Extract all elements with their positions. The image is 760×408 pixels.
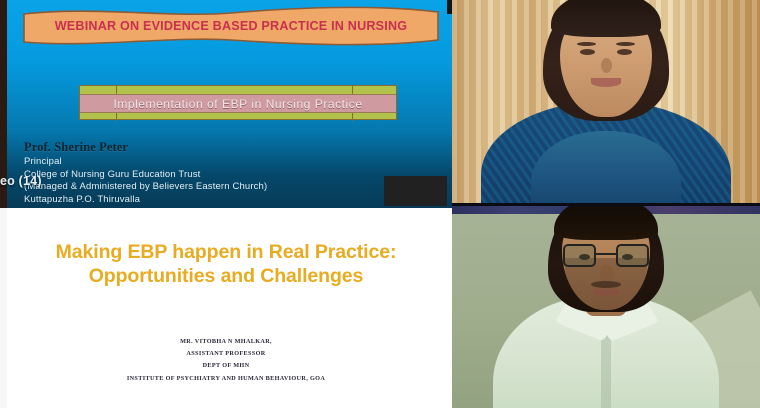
meeting-screen: WEBINAR ON EVIDENCE BASED PRACTICE IN NU… [0, 0, 760, 408]
slide-bottom-credits: MR. VITOBHA N MHALKAR, ASSISTANT PROFESS… [7, 336, 445, 385]
slide-bottom-title-line-2: Opportunities and Challenges [7, 264, 445, 288]
slide-presenter-block: Prof. Sherine Peter Principal College of… [24, 140, 324, 205]
slide-bottom-left-border [0, 208, 7, 408]
slide-subtitle-band: Implementation of EBP in Nursing Practic… [80, 94, 396, 113]
video-count-badge[interactable]: eo (14) [0, 174, 42, 188]
slide-banner-title: WEBINAR ON EVIDENCE BASED PRACTICE IN NU… [22, 4, 440, 50]
slide-webinar-title[interactable]: WEBINAR ON EVIDENCE BASED PRACTICE IN NU… [7, 0, 452, 208]
woman-eyebrow-left [577, 42, 596, 46]
glasses-lens-left [563, 244, 596, 267]
woman-mouth [591, 78, 621, 87]
glasses-bridge [596, 253, 616, 255]
slide-making-ebp-happen[interactable]: Making EBP happen in Real Practice: Oppo… [7, 208, 445, 408]
participant-video-bottom[interactable] [452, 205, 760, 408]
shared-screen-panel[interactable]: WEBINAR ON EVIDENCE BASED PRACTICE IN NU… [0, 0, 452, 408]
slide-bottom-title-line-1: Making EBP happen in Real Practice: [7, 240, 445, 264]
presenter-address: Kuttapuzha P.O. Thiruvalla [24, 194, 324, 206]
woman-eyebrow-right [616, 42, 635, 46]
woman-eye-left [580, 49, 595, 55]
slide-bottom-right-border [445, 208, 452, 408]
presenter-affiliation: (Managed & Administered by Believers Eas… [24, 181, 324, 193]
participant-video-top[interactable] [452, 0, 760, 205]
slide-banner-ribbon: WEBINAR ON EVIDENCE BASED PRACTICE IN NU… [22, 4, 440, 50]
presenter-institution: College of Nursing Guru Education Trust [24, 169, 324, 181]
slide-subtitle-text: Implementation of EBP in Nursing Practic… [113, 97, 362, 111]
camera-tile-divider [452, 203, 760, 206]
presenter-role: Principal [24, 156, 324, 168]
man-hair-fringe [554, 205, 658, 240]
presenter-name: Prof. Sherine Peter [24, 140, 324, 155]
credit-designation: ASSISTANT PROFESSOR [7, 348, 445, 360]
man-mouth [593, 289, 619, 296]
slide-dark-overlay-box [384, 176, 447, 206]
credit-speaker-name: MR. VITOBHA N MHALKAR, [7, 336, 445, 348]
credit-institute: INSTITUTE OF PSYCHIATRY AND HUMAN BEHAVI… [7, 373, 445, 385]
man-nose [600, 265, 613, 282]
slide-subtitle-bar: Implementation of EBP in Nursing Practic… [79, 85, 397, 120]
glasses-lens-right [616, 244, 649, 267]
slide-bottom-title: Making EBP happen in Real Practice: Oppo… [7, 240, 445, 288]
credit-department: DEPT OF MHN [7, 360, 445, 372]
woman-nose [601, 58, 612, 73]
woman-eye-right [617, 49, 632, 55]
woman-hair-fringe [551, 0, 661, 37]
man-moustache [591, 281, 621, 288]
